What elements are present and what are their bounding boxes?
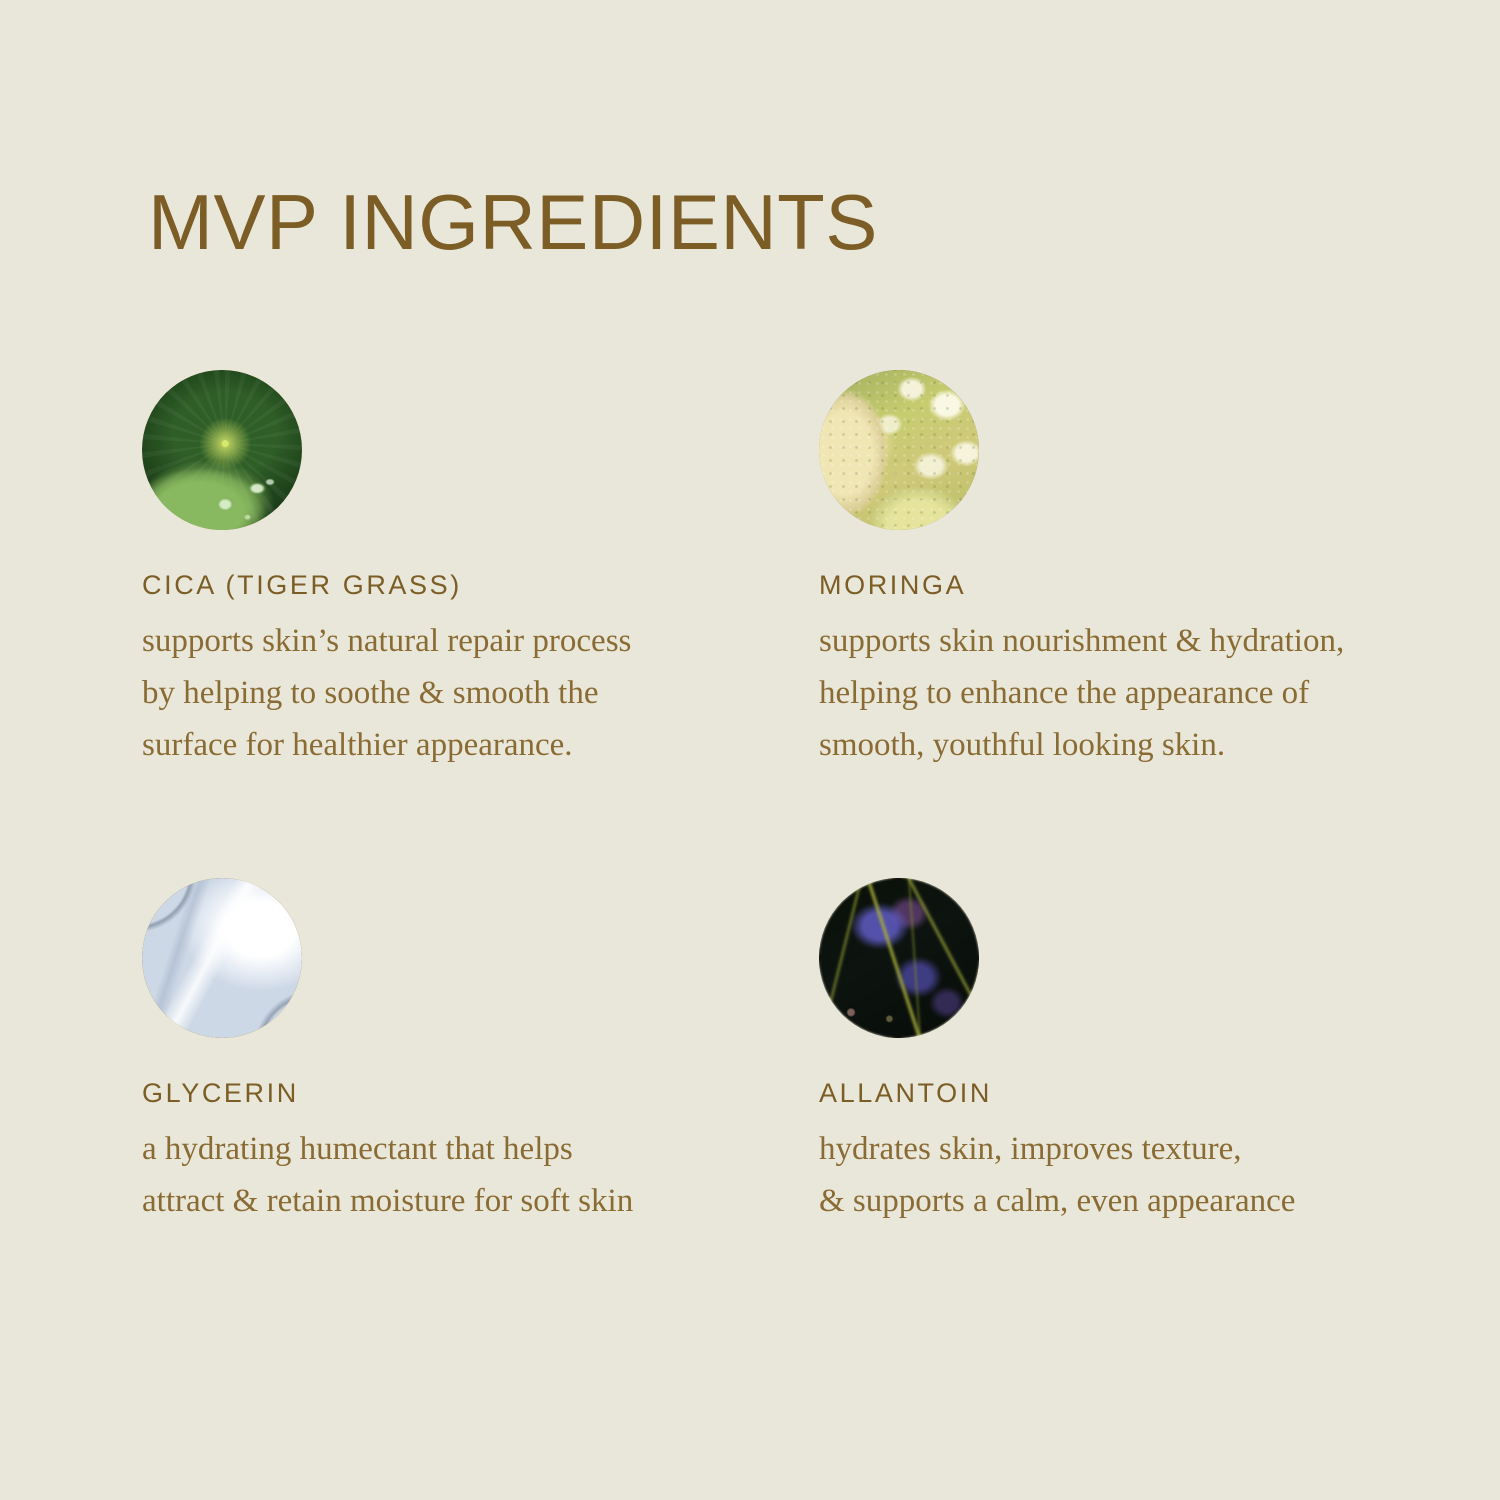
ingredient-card-moringa: MORINGA supports skin nourishment & hydr…	[819, 370, 1479, 771]
ingredient-card-allantoin: ALLANTOIN hydrates skin, improves textur…	[819, 878, 1479, 1227]
ingredients-grid: CICA (TIGER GRASS) supports skin’s natur…	[0, 0, 1500, 1500]
mvp-ingredients-page: MVP INGREDIENTS CICA (TIGER GRASS) suppo…	[0, 0, 1500, 1500]
ingredient-description-allantoin: hydrates skin, improves texture, & suppo…	[819, 1123, 1479, 1227]
ingredient-name-glycerin: GLYCERIN	[142, 1077, 802, 1109]
ingredient-name-moringa: MORINGA	[819, 569, 1479, 601]
description-line: attract & retain moisture for soft skin	[142, 1175, 802, 1227]
description-line: helping to enhance the appearance of	[819, 667, 1479, 719]
cica-image-swatch	[142, 370, 302, 530]
ingredient-name-allantoin: ALLANTOIN	[819, 1077, 1479, 1109]
moringa-pods-photo	[819, 370, 979, 530]
description-line: supports skin’s natural repair process	[142, 615, 802, 667]
ingredient-card-glycerin: GLYCERIN a hydrating humectant that help…	[142, 878, 802, 1227]
glycerin-image-swatch	[142, 878, 302, 1038]
description-line: surface for healthier appearance.	[142, 719, 802, 771]
cica-leaf-photo	[142, 370, 302, 530]
glycerin-texture-photo	[142, 878, 302, 1038]
description-line: a hydrating humectant that helps	[142, 1123, 802, 1175]
allantoin-image-swatch	[819, 878, 979, 1038]
ingredient-description-cica: supports skin’s natural repair process b…	[142, 615, 802, 771]
description-line: hydrates skin, improves texture,	[819, 1123, 1479, 1175]
allantoin-comfrey-photo	[819, 878, 979, 1038]
ingredient-name-cica: CICA (TIGER GRASS)	[142, 569, 802, 601]
description-line: smooth, youthful looking skin.	[819, 719, 1479, 771]
ingredient-card-cica: CICA (TIGER GRASS) supports skin’s natur…	[142, 370, 802, 771]
description-line: & supports a calm, even appearance	[819, 1175, 1479, 1227]
moringa-image-swatch	[819, 370, 979, 530]
description-line: supports skin nourishment & hydration,	[819, 615, 1479, 667]
description-line: by helping to soothe & smooth the	[142, 667, 802, 719]
ingredient-description-moringa: supports skin nourishment & hydration, h…	[819, 615, 1479, 771]
ingredient-description-glycerin: a hydrating humectant that helps attract…	[142, 1123, 802, 1227]
